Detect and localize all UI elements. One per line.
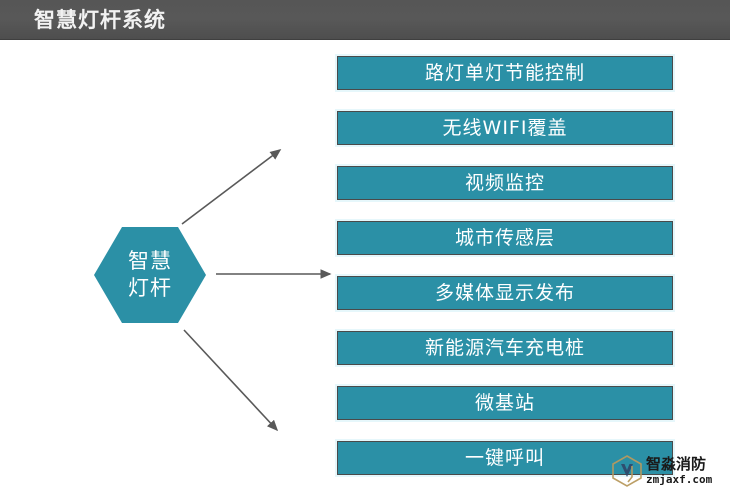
center-node-smart-pole[interactable]: 智慧 灯杆 <box>94 227 206 323</box>
capability-bar[interactable]: 无线WIFI覆盖 <box>337 111 673 145</box>
capability-label: 多媒体显示发布 <box>435 282 575 304</box>
capability-list: 路灯单灯节能控制 无线WIFI覆盖 视频监控 城市传感层 多媒体显示发布 新能源… <box>337 56 673 475</box>
capability-bar[interactable]: 视频监控 <box>337 166 673 200</box>
capability-bar[interactable]: 城市传感层 <box>337 221 673 255</box>
watermark: 智淼消防 zmjaxf.com <box>612 452 724 490</box>
capability-label: 微基站 <box>475 392 535 414</box>
capability-label: 一键呼叫 <box>465 447 545 469</box>
capability-bar[interactable]: 路灯单灯节能控制 <box>337 56 673 90</box>
slide-canvas: 智慧灯杆系统 智慧 灯杆 路灯单灯节能控制 无线WIFI覆盖 视频监控 <box>0 0 730 494</box>
capability-label: 新能源汽车充电桩 <box>425 337 585 359</box>
arrow-up-right-icon <box>182 150 280 224</box>
page-title: 智慧灯杆系统 <box>34 7 166 33</box>
capability-label: 城市传感层 <box>455 227 555 249</box>
capability-bar[interactable]: 多媒体显示发布 <box>337 276 673 310</box>
arrow-down-right-icon <box>184 330 277 430</box>
header-bar: 智慧灯杆系统 <box>0 0 730 40</box>
shield-diamond-icon <box>612 455 642 487</box>
capability-label: 无线WIFI覆盖 <box>443 117 568 139</box>
capability-bar[interactable]: 微基站 <box>337 386 673 420</box>
center-node-line2: 灯杆 <box>128 275 172 302</box>
capability-bar[interactable]: 新能源汽车充电桩 <box>337 331 673 365</box>
watermark-brand: 智淼消防 <box>646 457 712 472</box>
center-node-label: 智慧 灯杆 <box>94 227 206 323</box>
center-node-line1: 智慧 <box>128 248 172 275</box>
capability-label: 视频监控 <box>465 172 545 194</box>
capability-label: 路灯单灯节能控制 <box>425 62 585 84</box>
watermark-url: zmjaxf.com <box>646 474 712 485</box>
watermark-text: 智淼消防 zmjaxf.com <box>646 457 712 485</box>
